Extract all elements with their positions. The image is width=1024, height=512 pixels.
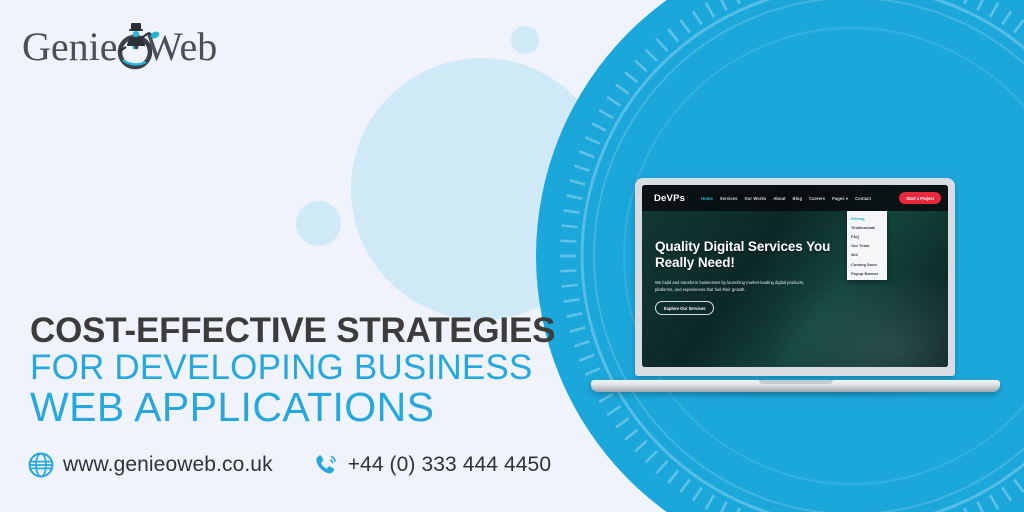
svg-text:Genie: Genie	[22, 24, 118, 69]
site-nav-items: HomeServicesOur WorksAboutBlogCareersPag…	[701, 196, 871, 201]
website-text: www.genieoweb.co.uk	[63, 453, 273, 477]
genieoweb-logo[interactable]: Genie Web	[22, 16, 222, 74]
page-title: COST-EFFECTIVE STRATEGIES FOR DEVELOPING…	[30, 312, 590, 430]
decorative-circle-small-top	[511, 26, 539, 54]
svg-text:Web: Web	[145, 24, 217, 69]
site-hero: Quality Digital Services You Really Need…	[655, 239, 855, 315]
site-nav-item[interactable]: Contact	[855, 196, 871, 201]
headline-line-1: COST-EFFECTIVE STRATEGIES	[30, 312, 590, 349]
promo-banner: Genie Web COST-EFFECTIVE STRATEGIES FOR …	[0, 0, 1024, 512]
hero-heading: Quality Digital Services You Really Need…	[655, 239, 855, 272]
site-nav-item[interactable]: Pages ▾	[832, 196, 848, 201]
start-a-project-button[interactable]: Start a Project	[899, 192, 941, 203]
contact-bar: www.genieoweb.co.uk +44 (0) 333 444 4450	[28, 452, 551, 478]
phone-link[interactable]: +44 (0) 333 444 4450	[313, 452, 551, 478]
laptop-lid: DeVPs HomeServicesOur WorksAboutBlogCare…	[635, 178, 955, 376]
site-nav-item[interactable]: Services	[720, 196, 738, 201]
site-nav-item[interactable]: Our Works	[745, 196, 767, 201]
explore-our-services-button[interactable]: Explore Our Services	[655, 301, 714, 315]
website-link[interactable]: www.genieoweb.co.uk	[28, 452, 273, 478]
site-nav-item[interactable]: Careers	[809, 196, 825, 201]
dropdown-item[interactable]: Testimonials	[847, 223, 887, 232]
logo-artwork-icon: Genie Web	[22, 16, 222, 74]
laptop-base	[591, 380, 1000, 392]
dropdown-item[interactable]: Pricing	[847, 214, 887, 223]
site-navbar: DeVPs HomeServicesOur WorksAboutBlogCare…	[642, 185, 948, 211]
site-brand[interactable]: DeVPs	[654, 193, 685, 204]
headline-line-3: WEB APPLICATIONS	[30, 386, 590, 429]
globe-icon	[28, 452, 54, 478]
site-nav-item[interactable]: Home	[701, 196, 713, 201]
headline-line-2: FOR DEVELOPING BUSINESS	[30, 349, 590, 386]
phone-text: +44 (0) 333 444 4450	[348, 453, 551, 477]
phone-ringing-icon	[313, 452, 339, 478]
site-nav-item[interactable]: Blog	[793, 196, 803, 201]
site-nav-item[interactable]: About	[773, 196, 785, 201]
decorative-circle-small-left	[296, 201, 341, 246]
laptop-screen: DeVPs HomeServicesOur WorksAboutBlogCare…	[642, 185, 948, 367]
laptop-mockup: DeVPs HomeServicesOur WorksAboutBlogCare…	[591, 178, 1000, 400]
hero-body: We build and transform businesses by lau…	[655, 279, 805, 293]
